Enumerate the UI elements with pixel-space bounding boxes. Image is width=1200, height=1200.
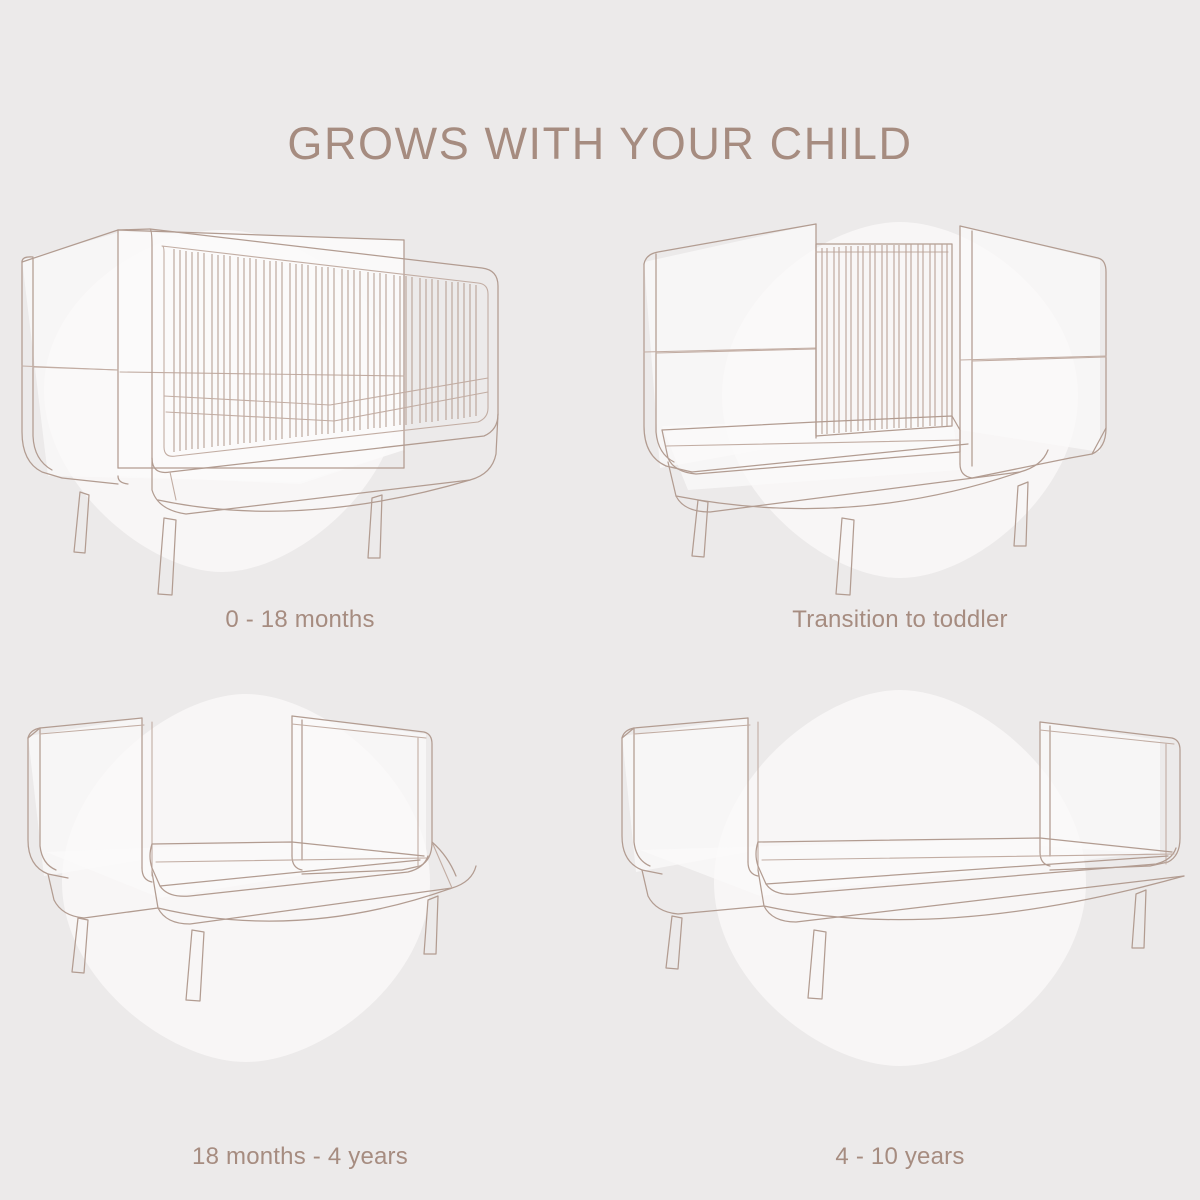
stage-caption: 4 - 10 years	[600, 1143, 1200, 1171]
stages-grid: 0 - 18 months	[0, 200, 1200, 1200]
stage-caption: Transition to toddler	[600, 606, 1200, 634]
page-title: GROWS WITH YOUR CHILD	[0, 118, 1200, 170]
crib-illustration	[0, 200, 600, 610]
stage-card-toddler-bed: 18 months - 4 years	[0, 680, 600, 1160]
product-stages-infographic: GROWS WITH YOUR CHILD	[0, 0, 1200, 1200]
stage-caption: 18 months - 4 years	[0, 1143, 600, 1171]
crib-transition-illustration	[600, 200, 1200, 610]
full-bed-illustration	[600, 680, 1200, 1090]
stage-card-crib: 0 - 18 months	[0, 200, 600, 680]
stage-caption: 0 - 18 months	[0, 606, 600, 634]
toddler-bed-illustration	[0, 680, 600, 1090]
stage-card-full-bed: 4 - 10 years	[600, 680, 1200, 1160]
stage-card-toddler-transition: Transition to toddler	[600, 200, 1200, 680]
